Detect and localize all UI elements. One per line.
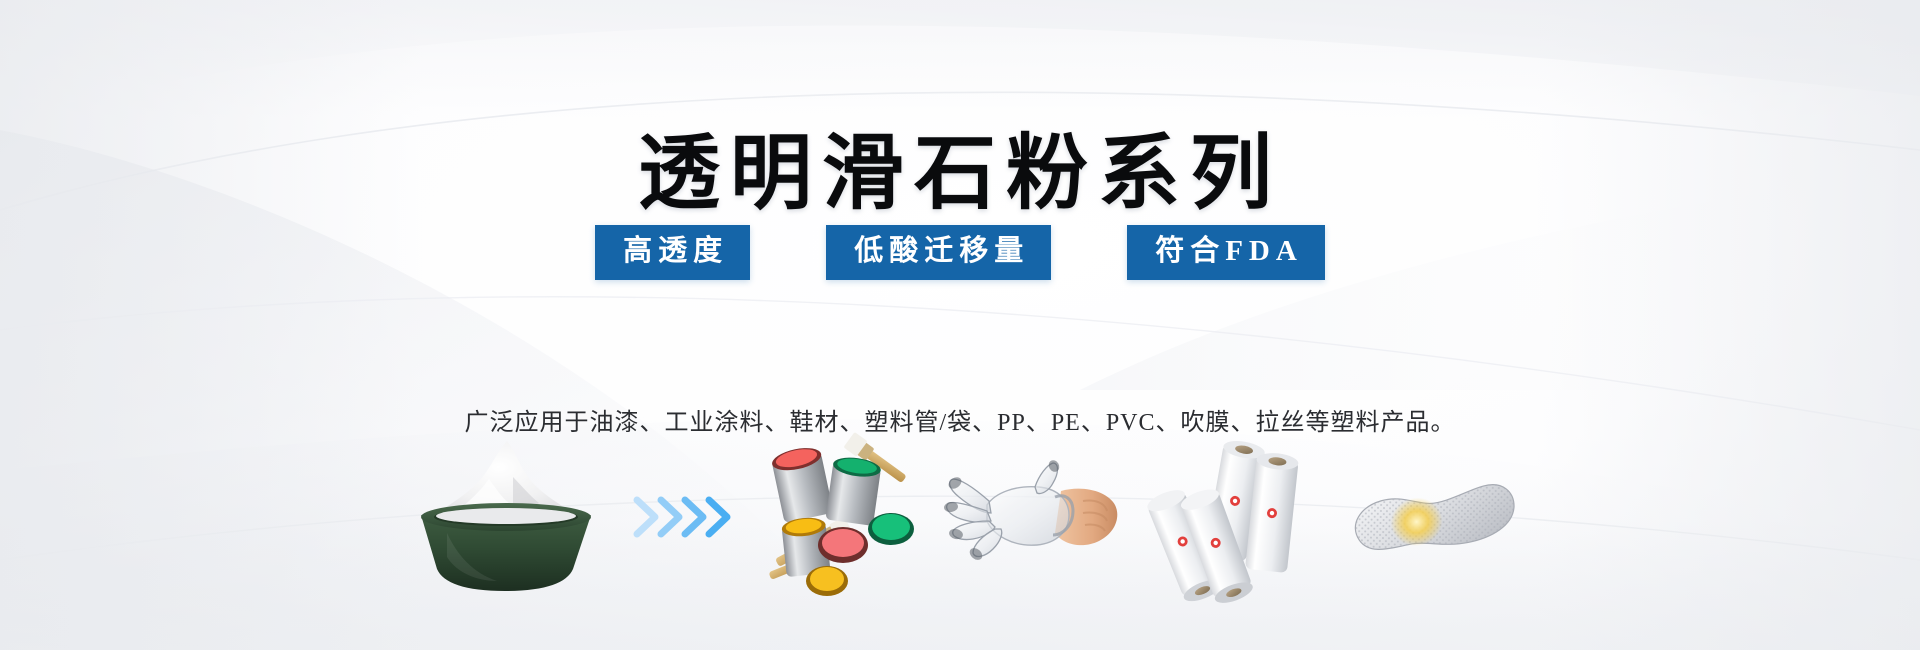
film-rolls-image [1134,432,1324,602]
paint-lid-yellow [806,566,848,596]
chevron-right-icon-2 [661,500,679,534]
feature-badge-fda-compliant[interactable]: 符合FDA [1127,225,1325,280]
plastic-film-rolls-icon [1139,437,1319,597]
chevron-right-arrows-icon [631,490,741,544]
banner-title: 透明滑石粉系列 [638,133,1282,215]
shoe-sole-icon [1338,462,1523,572]
product-banner: 透明滑石粉系列 高透度 低酸迁移量 符合FDA 广泛应用于油漆、工业涂料、鞋材、… [0,0,1920,650]
paint-lid-pink [818,527,868,563]
chevron-right-icon-4 [709,500,727,534]
feature-badge-low-acid-migration[interactable]: 低酸迁移量 [826,225,1051,280]
paint-can-red [770,444,833,523]
process-arrows [626,432,746,602]
feature-badge-high-transparency[interactable]: 高透度 [595,225,750,280]
paint-cans-image [752,432,932,602]
chevron-right-icon-3 [685,500,703,534]
product-application-strip [0,432,1920,602]
bowl-powder-surface [436,508,576,524]
paint-cans-icon [757,435,927,600]
plastic-glove-image [938,432,1128,602]
paint-can-green [825,454,882,525]
feature-badge-list: 高透度 低酸迁移量 符合FDA [0,225,1920,280]
gloved-hand-icon [943,457,1123,577]
talc-powder-bowl-icon [395,437,615,597]
chevron-right-icon-1 [637,500,655,534]
talc-powder-bowl-image [390,432,620,602]
paint-lid-green [868,513,914,545]
shoe-sole-image [1330,432,1530,602]
